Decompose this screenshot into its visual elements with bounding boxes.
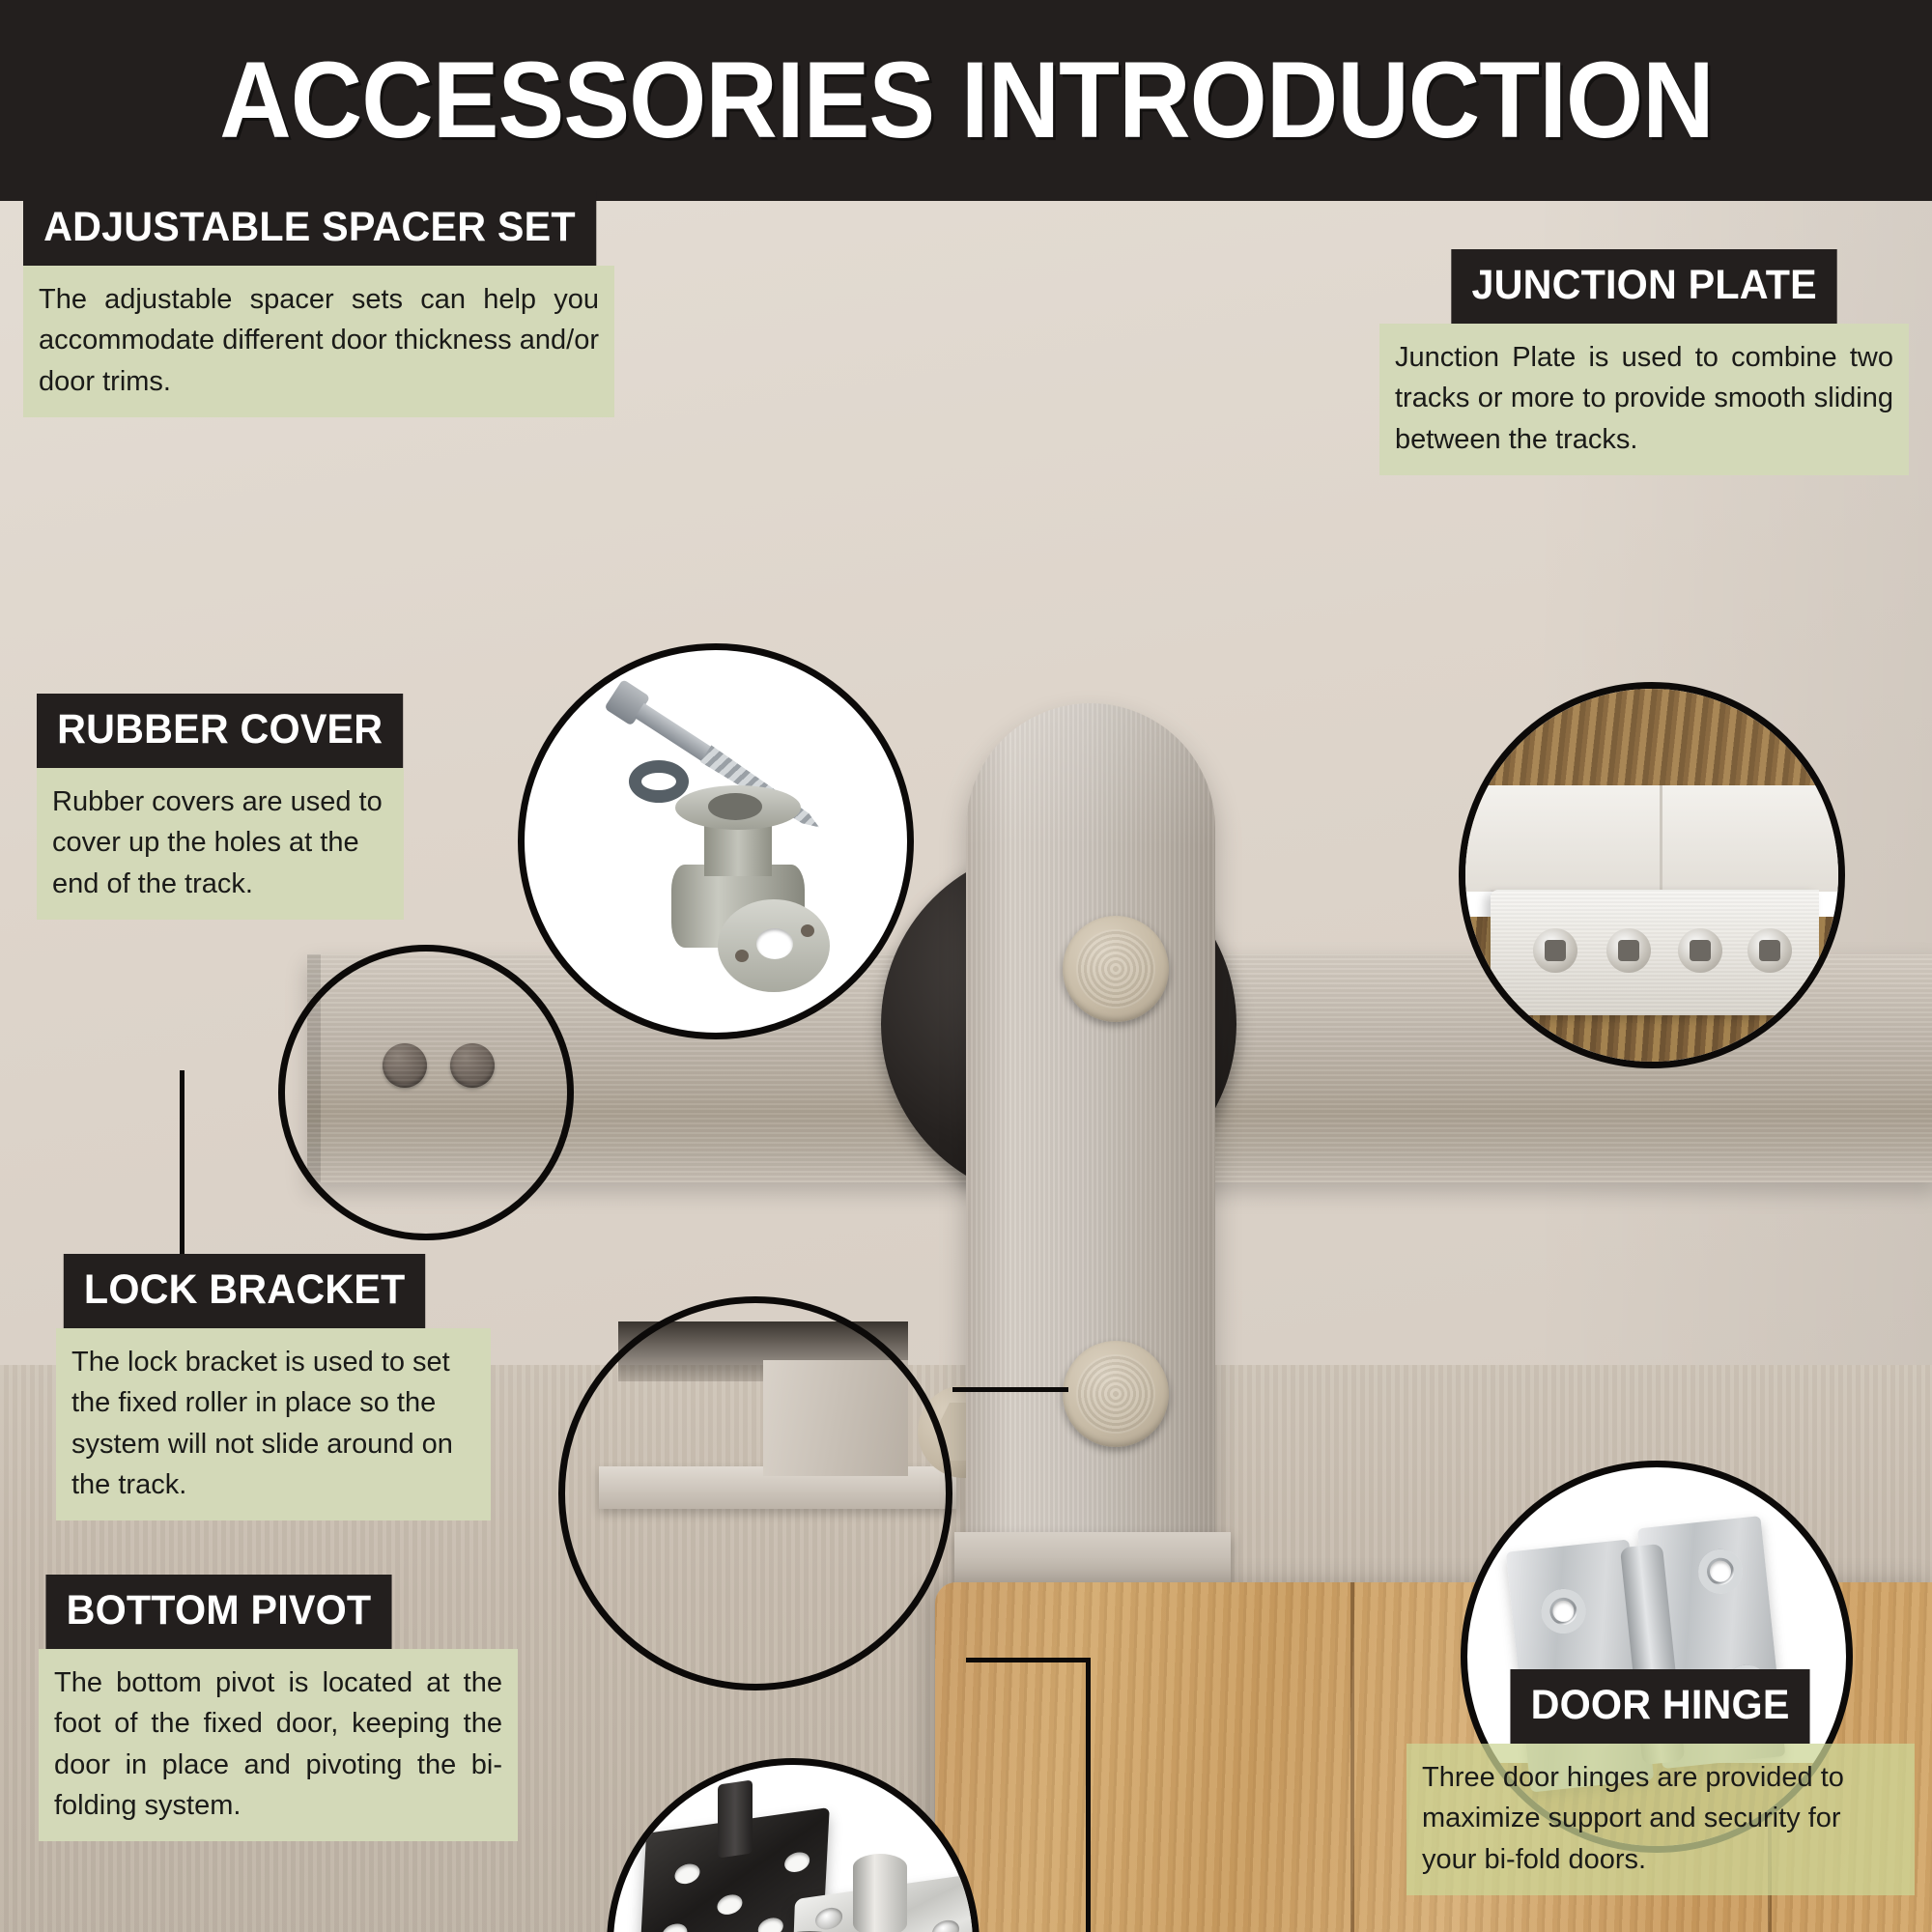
lock-bracket-photo	[565, 1303, 946, 1684]
callout-label-lock-bracket: LOCK BRACKET The lock bracket is used to…	[56, 1254, 491, 1520]
callout-body-door-hinge: Three door hinges are provided to maximi…	[1406, 1744, 1915, 1895]
junction-screw-1	[1533, 928, 1577, 973]
callout-body-bottom-pivot: The bottom pivot is located at the foot …	[39, 1649, 518, 1841]
rubber-cover-photo	[285, 952, 567, 1234]
infographic-stage: ACCESSORIES INTRODUCTION ADJUSTABLE SPAC…	[0, 0, 1932, 1932]
junction-plate-photo	[1465, 689, 1838, 1062]
washer-notch-1	[735, 950, 749, 962]
callout-label-junction-plate: JUNCTION PLATE Junction Plate is used to…	[1379, 249, 1909, 475]
callout-circle-bottom-pivot	[607, 1758, 980, 1932]
hanger-foot-plate	[954, 1532, 1231, 1586]
callout-label-adjustable-spacer-set: ADJUSTABLE SPACER SET The adjustable spa…	[23, 191, 614, 417]
door-panel-seam-1	[1350, 1582, 1354, 1932]
callout-title-rubber-cover: RUBBER COVER	[37, 694, 403, 768]
callout-circle-lock-bracket	[558, 1296, 952, 1690]
track-rails-pair	[1465, 785, 1838, 892]
washer-notch-2	[801, 924, 814, 937]
callout-title-bottom-pivot: BOTTOM PIVOT	[45, 1575, 391, 1649]
pivot-post	[718, 1779, 753, 1858]
bolt-ring-texture	[1076, 929, 1155, 1009]
connector-bottom-pivot-vertical	[1086, 1658, 1091, 1932]
spool-center-hole	[708, 793, 762, 820]
callout-title-lock-bracket: LOCK BRACKET	[64, 1254, 426, 1328]
callout-title-door-hinge: DOOR HINGE	[1511, 1669, 1810, 1744]
washer-center-hole	[756, 928, 793, 959]
callout-title-junction-plate: JUNCTION PLATE	[1451, 249, 1837, 324]
connector-lock-bracket-horizontal	[952, 1387, 1068, 1392]
hanger-bolt-bottom	[1063, 1341, 1169, 1447]
junction-screw-2	[1606, 928, 1651, 973]
connector-bottom-pivot-horizontal	[966, 1658, 1090, 1662]
pivot-pin	[853, 1854, 907, 1932]
callout-circle-junction-plate	[1459, 682, 1845, 1068]
callout-body-junction-plate: Junction Plate is used to combine two tr…	[1379, 324, 1909, 475]
callout-body-rubber-cover: Rubber covers are used to cover up the h…	[37, 768, 404, 920]
connector-rubber-cover-vertical	[180, 1070, 185, 1264]
junction-screw-3	[1678, 928, 1722, 973]
callout-label-rubber-cover: RUBBER COVER Rubber covers are used to c…	[37, 694, 404, 920]
callout-body-lock-bracket: The lock bracket is used to set the fixe…	[56, 1328, 491, 1520]
callout-label-door-hinge: DOOR HINGE Three door hinges are provide…	[1406, 1669, 1915, 1895]
flat-washer	[718, 899, 830, 992]
callout-circle-adjustable-spacer-set	[518, 643, 914, 1039]
callout-circle-rubber-cover	[278, 945, 574, 1240]
header-bar: ACCESSORIES INTRODUCTION	[0, 0, 1932, 201]
junction-screw-4	[1747, 928, 1792, 973]
bottom-pivot-photo	[613, 1765, 973, 1932]
callout-title-adjustable-spacer-set: ADJUSTABLE SPACER SET	[23, 191, 596, 266]
page-title: ACCESSORIES INTRODUCTION	[219, 46, 1714, 155]
hanger-bolt-top	[1063, 916, 1169, 1022]
callout-body-adjustable-spacer-set: The adjustable spacer sets can help you …	[23, 266, 614, 417]
screw-shank	[635, 703, 714, 763]
callout-label-bottom-pivot: BOTTOM PIVOT The bottom pivot is located…	[39, 1575, 518, 1841]
track-joint-seam	[1660, 785, 1662, 892]
spacer-set-photo	[525, 650, 907, 1033]
bolt-ring-texture	[1076, 1354, 1155, 1434]
